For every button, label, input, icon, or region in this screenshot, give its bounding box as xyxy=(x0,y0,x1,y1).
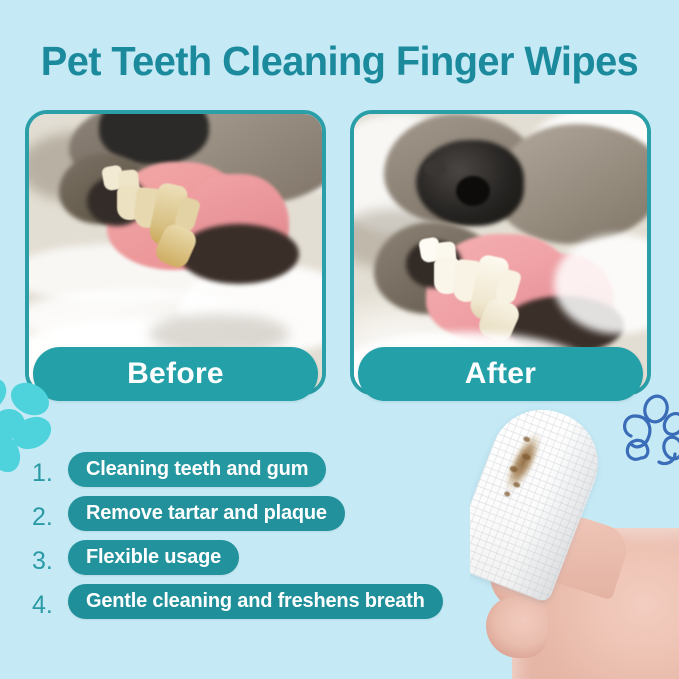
product-photo xyxy=(470,400,679,679)
infographic-page: Pet Teeth Cleaning Finger Wipes xyxy=(0,0,679,679)
list-item-label: Flexible usage xyxy=(68,540,239,575)
list-item: 1. Cleaning teeth and gum xyxy=(30,448,500,490)
dog-nostril xyxy=(456,176,490,206)
list-item-number: 3. xyxy=(30,544,68,578)
hand-finger xyxy=(486,596,548,658)
list-item-label: Cleaning teeth and gum xyxy=(68,452,326,487)
list-item-number: 1. xyxy=(30,456,68,490)
dog-nostril xyxy=(424,160,446,176)
list-item: 2. Remove tartar and plaque xyxy=(30,492,500,534)
list-item-label: Remove tartar and plaque xyxy=(68,496,345,531)
dog-mouth-interior xyxy=(179,224,299,284)
before-label-banner: Before xyxy=(33,347,318,401)
before-label: Before xyxy=(127,357,224,391)
list-item-number: 4. xyxy=(30,588,68,622)
after-label: After xyxy=(465,357,537,391)
list-item: 3. Flexible usage xyxy=(30,536,500,578)
list-item: 4. Gentle cleaning and freshens breath xyxy=(30,580,500,622)
list-item-number: 2. xyxy=(30,500,68,534)
feature-list: 1. Cleaning teeth and gum 2. Remove tart… xyxy=(30,448,500,624)
after-label-banner: After xyxy=(358,347,643,401)
page-title: Pet Teeth Cleaning Finger Wipes xyxy=(10,38,669,85)
list-item-label: Gentle cleaning and freshens breath xyxy=(68,584,443,619)
